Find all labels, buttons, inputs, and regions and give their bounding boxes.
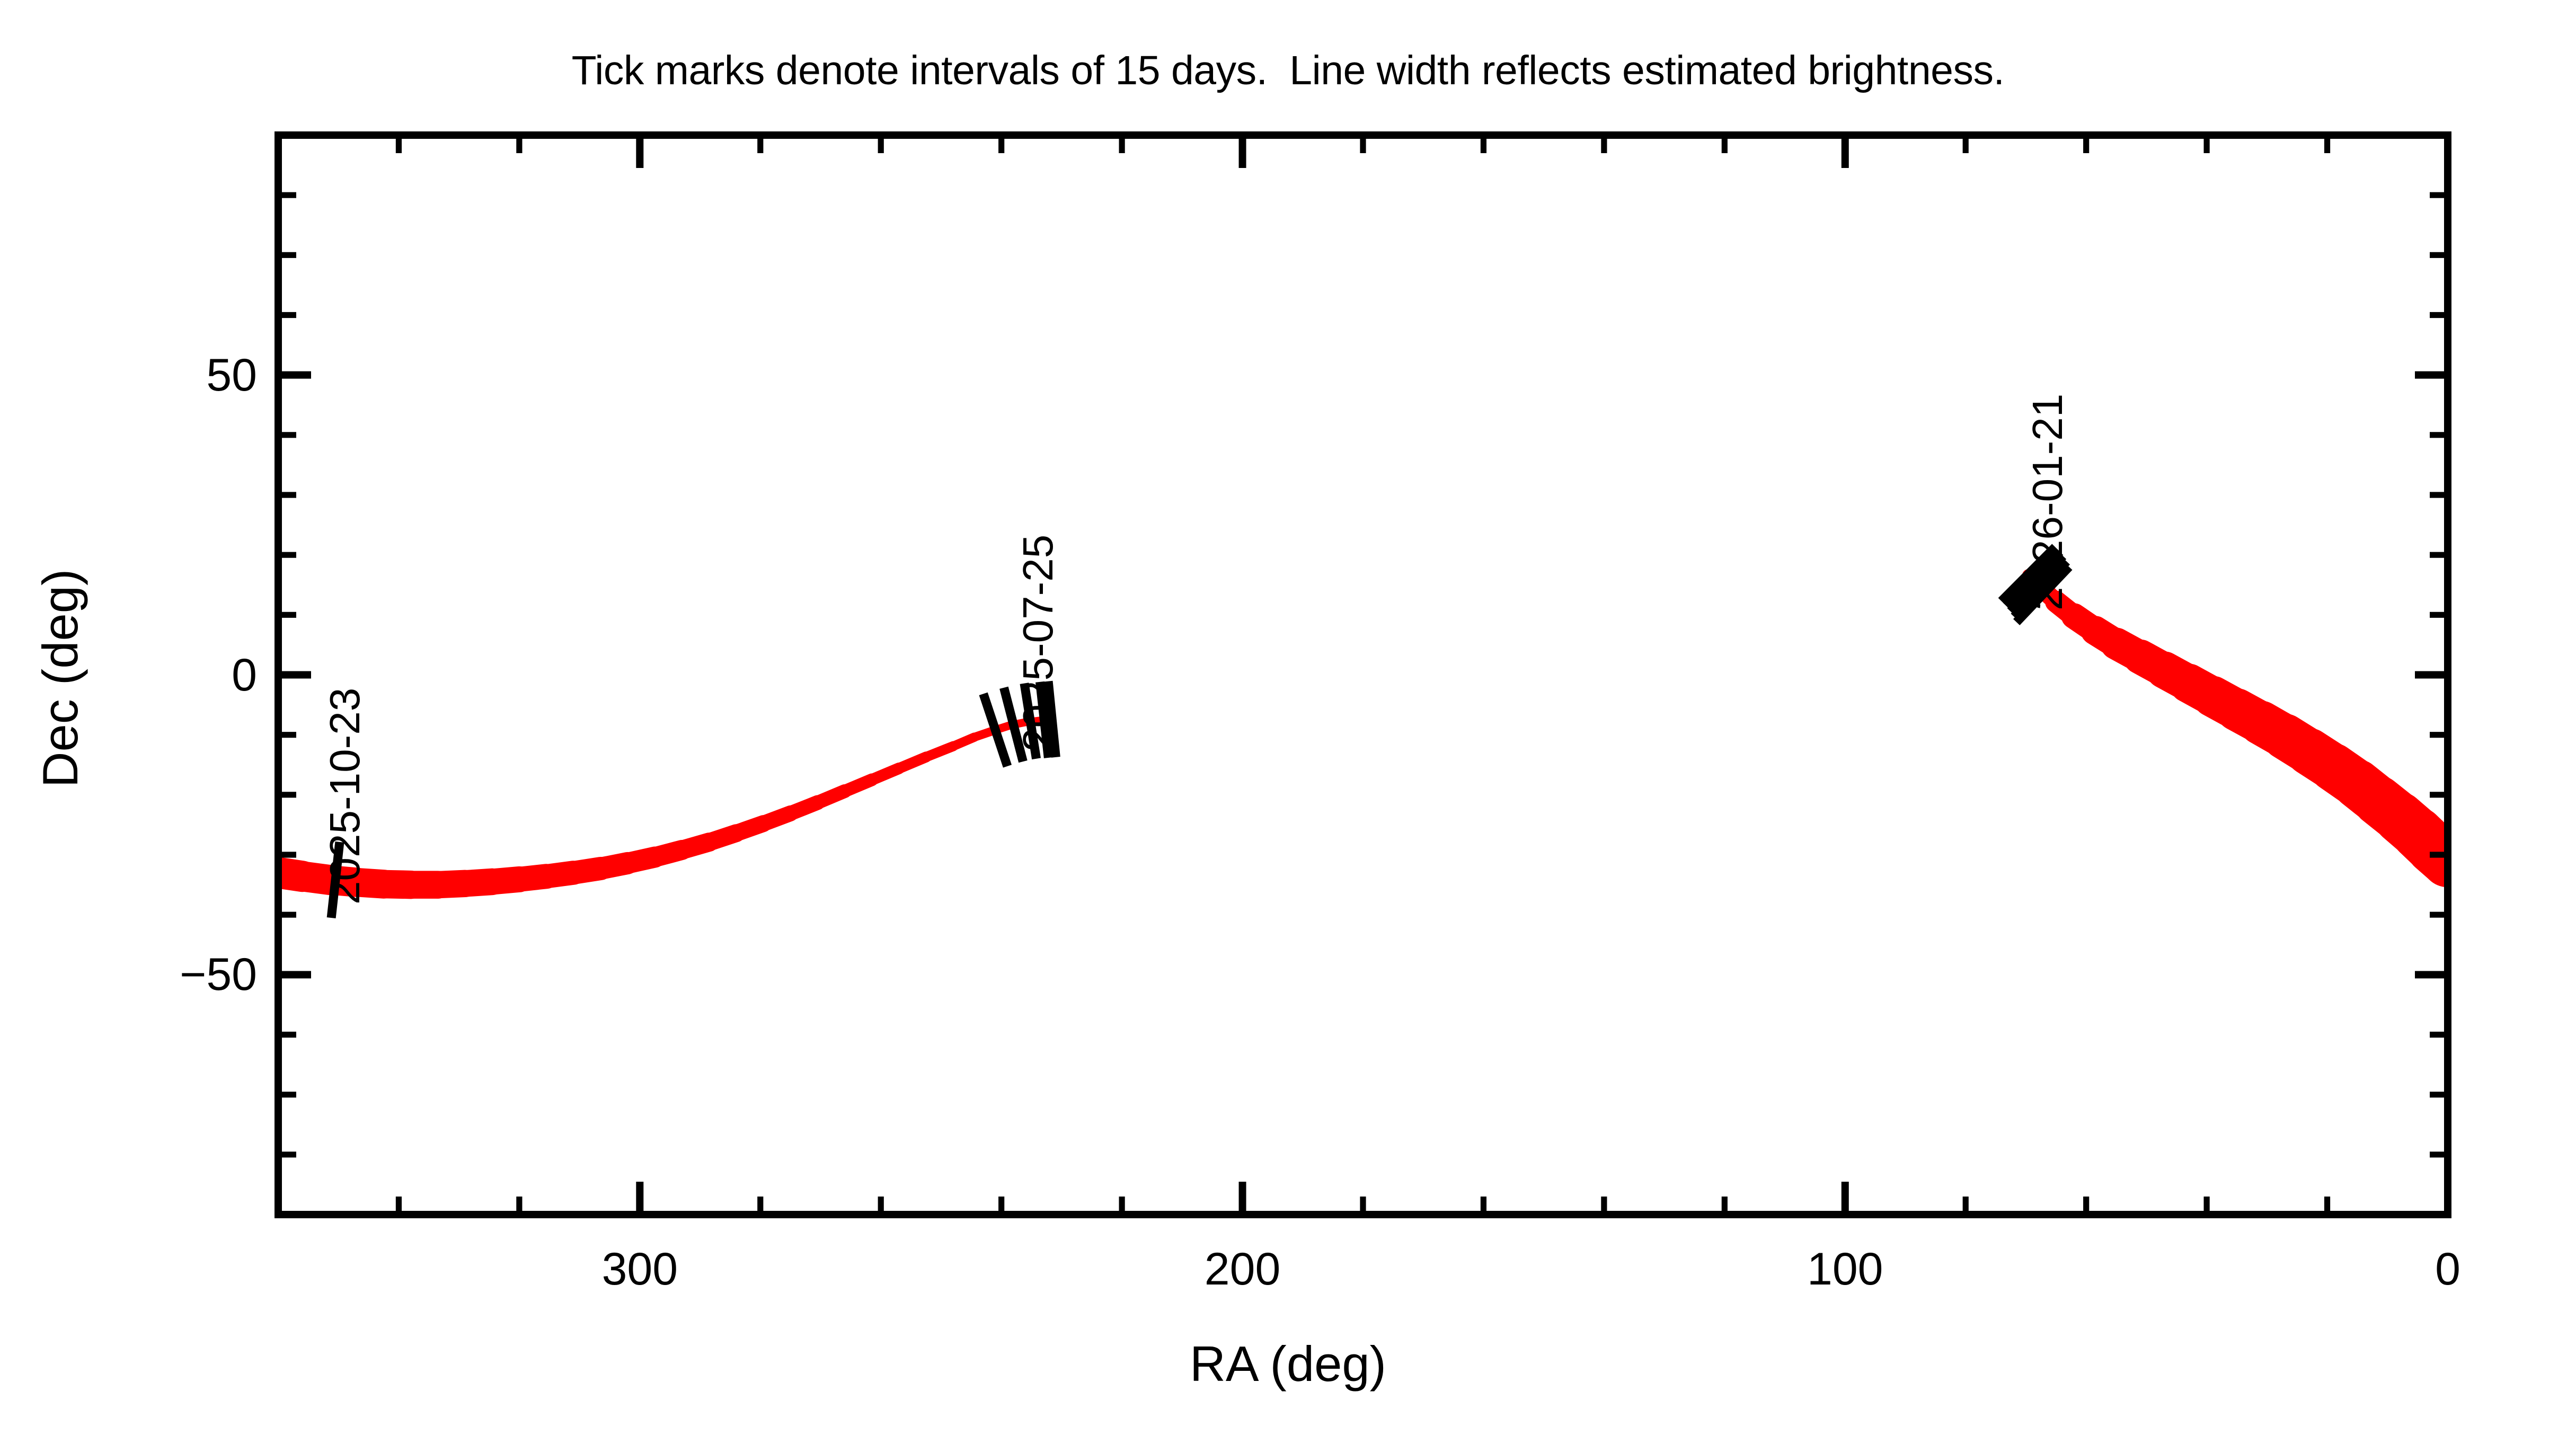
comet-track-group (262, 570, 2474, 899)
y-axis-title: Dec (deg) (32, 569, 89, 788)
x-axis-title: RA (deg) (0, 1335, 2576, 1393)
x-tick-label: 0 (2435, 1246, 2460, 1292)
date-annotation: 2025-10-23 (324, 688, 366, 905)
x-tick-label: 300 (602, 1246, 678, 1292)
axis-frame (278, 135, 2448, 1215)
x-tick-label: 200 (1205, 1246, 1281, 1292)
y-tick-label: −50 (180, 952, 257, 997)
y-tick-label: 0 (232, 652, 257, 698)
figure-canvas: Tick marks denote intervals of 15 days. … (0, 0, 2576, 1435)
date-annotation: 2025-07-25 (1017, 535, 1059, 751)
plot-area (0, 0, 2576, 1435)
date-annotation: 2026-01-21 (2026, 394, 2069, 610)
y-tick-label: 50 (206, 352, 257, 398)
x-tick-label: 100 (1807, 1246, 1883, 1292)
